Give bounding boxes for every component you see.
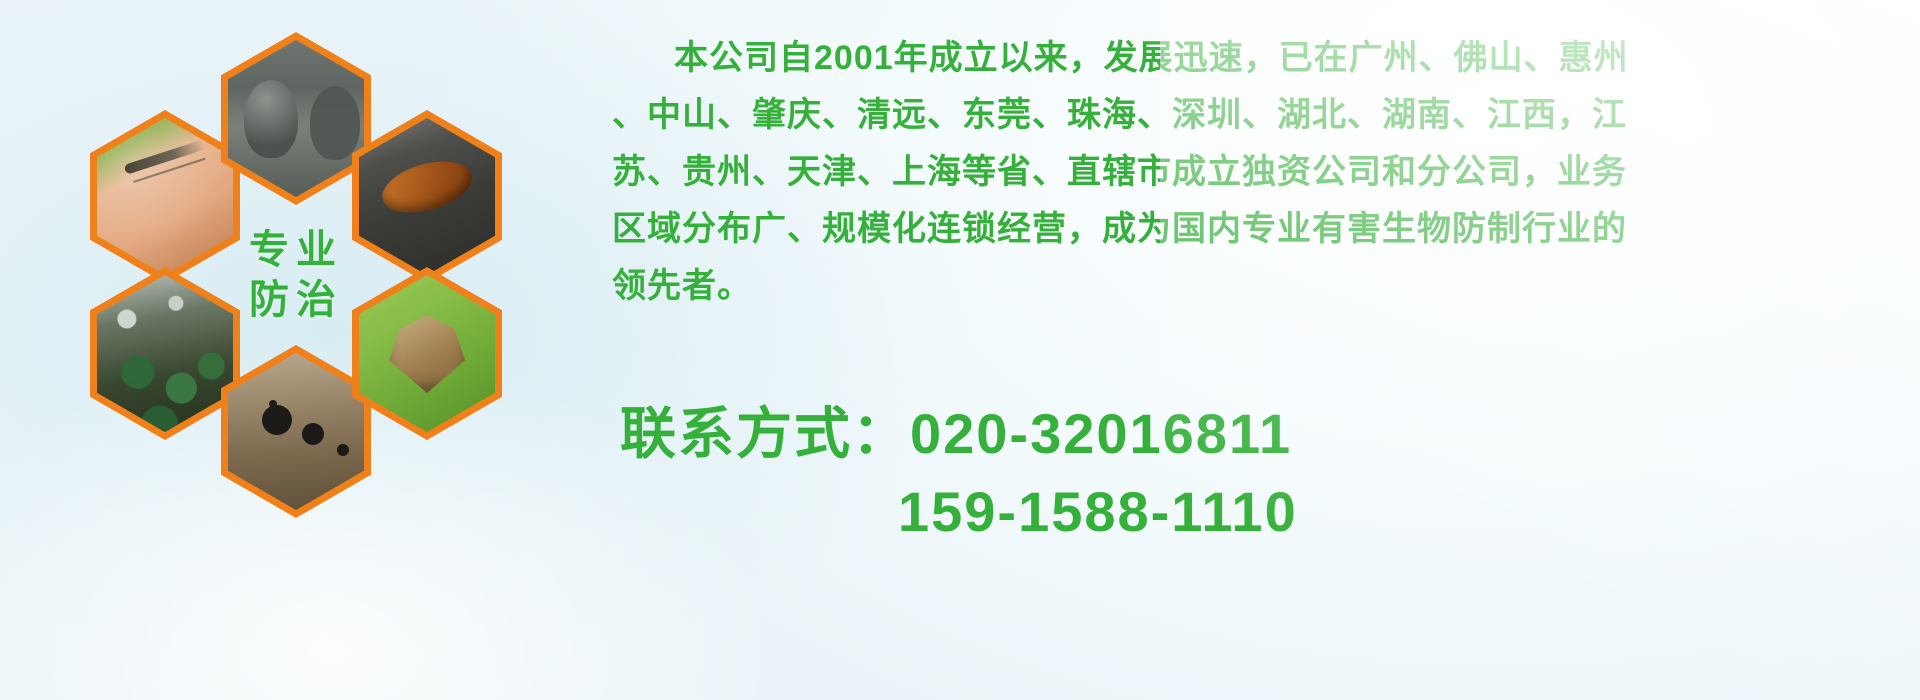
hex-cell-flies [90, 267, 240, 440]
brand-slogan: 专业 防治 [249, 225, 343, 325]
intro-block: 本公司自2001年成立以来，发展迅速，已在广州、佛山、惠州 、中山、肇庆、清远、… [612, 30, 1902, 315]
promo-banner: 专业 防治 本公司自2001年成立以来，发展迅速，已在广州、佛山、惠州 、中山、… [0, 0, 1920, 700]
hex-image-flies [97, 275, 233, 432]
mosquito-icon [97, 118, 233, 275]
intro-line-2: 、中山、肇庆、清远、东莞、珠海、深圳、湖北、湖南、江西，江 [612, 87, 1902, 144]
cockroach-icon [359, 118, 495, 275]
hex-cell-stinkbug [352, 267, 502, 440]
hex-image-stinkbug [359, 275, 495, 432]
intro-line-4: 区域分布广、规模化连锁经营，成为国内专业有害生物防制行业的 [612, 201, 1902, 258]
intro-paragraph: 本公司自2001年成立以来，发展迅速，已在广州、佛山、惠州 、中山、肇庆、清远、… [612, 30, 1902, 315]
ant-icon [228, 353, 364, 510]
fly-icon [97, 275, 233, 432]
hex-image-rats [228, 40, 364, 197]
hex-cell-rats [221, 32, 371, 205]
hex-photo-cluster: 专业 防治 [90, 10, 590, 580]
hex-cell-ant [221, 345, 371, 518]
stink-bug-icon [359, 275, 495, 432]
intro-line-5: 领先者。 [612, 258, 1902, 315]
contact-phone-secondary[interactable]: 159-1588-1110 [620, 473, 1910, 551]
contact-block: 联系方式：020-32016811 159-1588-1110 [620, 395, 1910, 551]
intro-line-3: 苏、贵州、天津、上海等省、直辖市成立独资公司和分公司，业务 [612, 144, 1902, 201]
brand-slogan-line2: 防治 [249, 275, 343, 325]
hex-cell-cockroach [352, 110, 502, 283]
contact-phone-primary[interactable]: 联系方式：020-32016811 [620, 395, 1910, 473]
brand-slogan-hex: 专业 防治 [221, 188, 371, 361]
rat-icon [228, 40, 364, 197]
hex-cell-mosquito [90, 110, 240, 283]
hex-image-mosquito [97, 118, 233, 275]
hex-image-ant [228, 353, 364, 510]
brand-slogan-line1: 专业 [249, 225, 343, 275]
intro-line-1: 本公司自2001年成立以来，发展迅速，已在广州、佛山、惠州 [612, 30, 1902, 87]
hex-image-cockroach [359, 118, 495, 275]
